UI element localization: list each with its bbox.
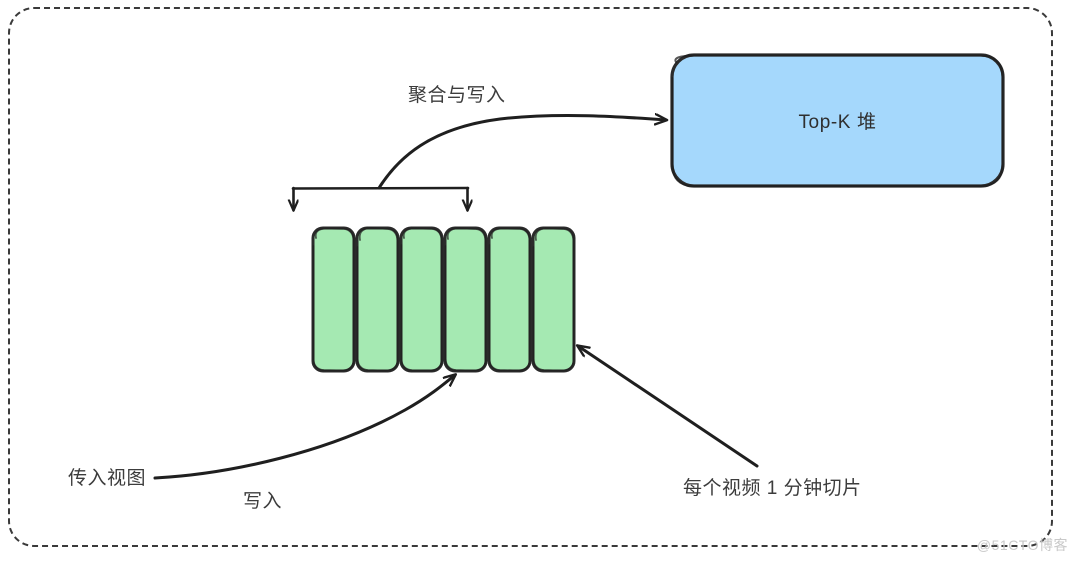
slice-bar[interactable]	[445, 228, 486, 371]
slice-bar[interactable]	[357, 228, 398, 371]
slice-bar[interactable]	[401, 228, 442, 371]
label-incoming-view: 传入视图	[68, 469, 146, 490]
slice-bar[interactable]	[313, 228, 354, 371]
slice-bar[interactable]	[533, 228, 574, 371]
label-write: 写入	[243, 492, 282, 513]
diagram-artwork	[0, 0, 1080, 561]
slice-bars-group	[313, 228, 574, 371]
arrow-aggregate-to-topk	[379, 115, 666, 188]
label-aggregate-and-write: 聚合与写入	[408, 86, 506, 107]
diagram-canvas: Top-K 堆 聚合与写入 传入视图 写入 每个视频 1 分钟切片 @51CTO…	[0, 0, 1080, 561]
topk-box[interactable]	[672, 55, 1003, 186]
arrow-incoming-to-slices	[155, 375, 455, 478]
arrow-slice-annotation	[578, 346, 757, 466]
slices-bracket	[293, 188, 468, 210]
label-per-video-one-minute-slice: 每个视频 1 分钟切片	[683, 479, 862, 500]
slice-bar[interactable]	[489, 228, 530, 371]
watermark: @51CTO博客	[977, 535, 1068, 555]
